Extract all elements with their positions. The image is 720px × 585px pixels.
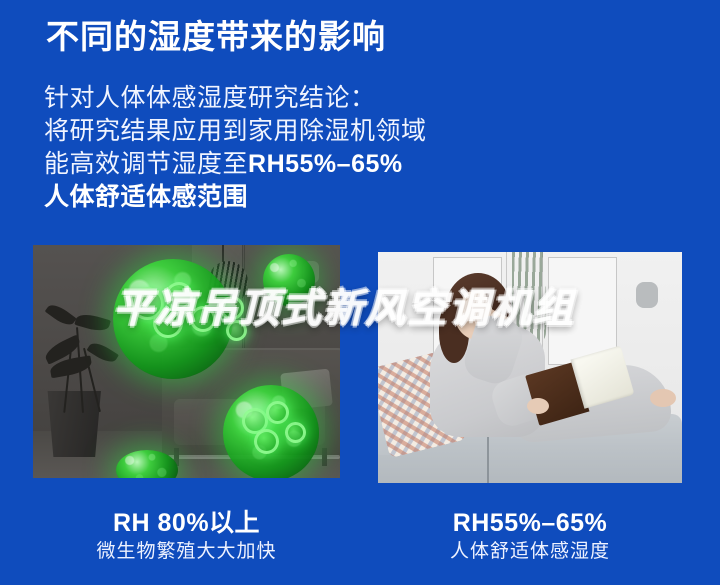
body-line-1: 针对人体体感湿度研究结论：: [44, 82, 427, 115]
sofa-seam: [487, 432, 489, 483]
body-line-2: 将研究结果应用到家用除湿机领域: [44, 115, 427, 148]
body-copy: 针对人体体感湿度研究结论： 将研究结果应用到家用除湿机领域 能高效调节湿度至RH…: [44, 82, 427, 214]
page-title: 不同的湿度带来的影响: [46, 16, 386, 57]
body-line-3: 能高效调节湿度至RH55%–65%: [44, 148, 427, 181]
microbe-bud-9: [254, 429, 279, 454]
person-hand: [527, 398, 549, 414]
photo-comfort-humidity: [378, 252, 682, 483]
body-line-3-value: RH55%–65%: [248, 150, 403, 178]
microbe-bud-4: [190, 306, 216, 332]
microbe-bud-10: [285, 422, 306, 443]
poster-root: 不同的湿度带来的影响 针对人体体感湿度研究结论： 将研究结果应用到家用除湿机领域…: [0, 0, 720, 585]
body-line-3-prefix: 能高效调节湿度至: [44, 150, 248, 178]
sofa-leg-right: [322, 448, 327, 467]
microbe-bud-6: [226, 320, 247, 341]
caption-comfort-humidity: RH55%–65% 人体舒适体感湿度: [378, 508, 682, 565]
photo-high-humidity: [33, 245, 340, 478]
plant-pot: [45, 391, 103, 457]
microbe-bud-3: [153, 308, 183, 338]
caption-subtitle: 人体舒适体感湿度: [378, 538, 682, 565]
person-foot: [650, 389, 676, 407]
caption-title: RH 80%以上: [33, 508, 340, 538]
caption-title: RH55%–65%: [378, 508, 682, 538]
caption-high-humidity: RH 80%以上 微生物繁殖大大加快: [33, 508, 340, 565]
wall-speaker-icon: [636, 282, 658, 308]
body-line-4: 人体舒适体感范围: [44, 181, 427, 214]
caption-subtitle: 微生物繁殖大大加快: [33, 538, 340, 565]
